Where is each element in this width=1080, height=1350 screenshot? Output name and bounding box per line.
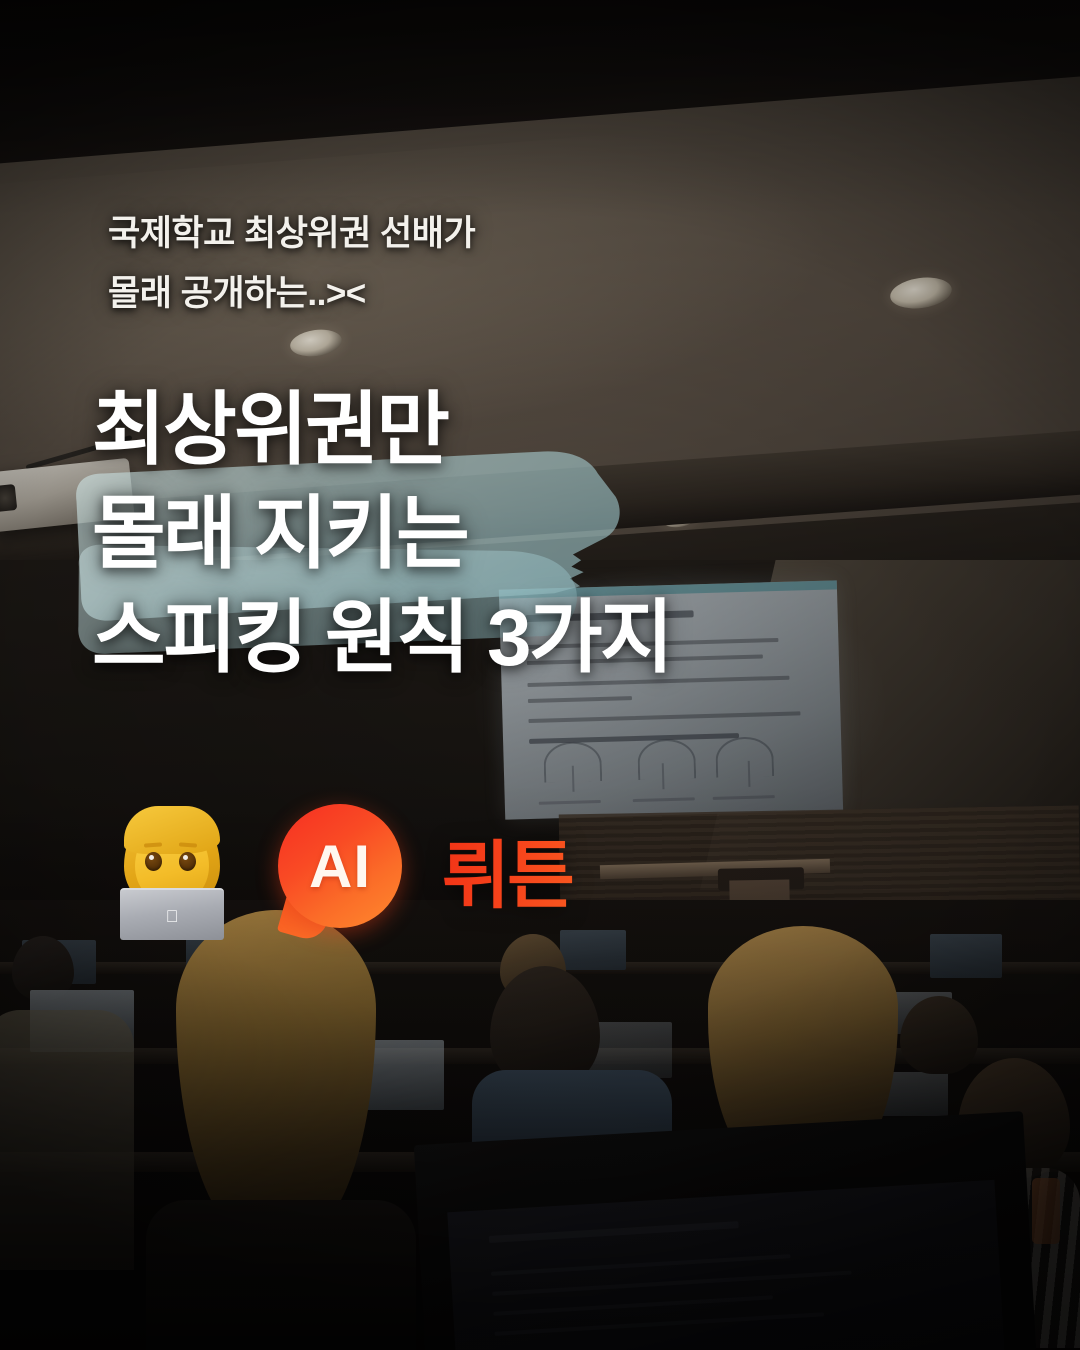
ai-badge-label: AI (278, 804, 402, 928)
apple-logo-icon:  (164, 908, 180, 925)
projector-lens (0, 484, 17, 512)
emoji-eye (179, 852, 196, 871)
brand-wordmark: 뤼튼 (442, 816, 572, 923)
bell-curve-icon (715, 736, 774, 778)
student-head (176, 910, 376, 1240)
emoji-eye (145, 852, 162, 871)
emoji-fringe (124, 806, 220, 854)
brand-logo-lockup[interactable]:  AI 뤼튼 (112, 790, 612, 945)
headline-text: 최상위권만 몰래 지키는 스피킹 원칙 3가지 (92, 378, 671, 690)
woman-technologist-emoji:  (120, 802, 224, 932)
subtitle-text: 국제학교 최상위권 선배가 몰래 공개하는..>< (108, 204, 475, 324)
promo-card: 국제학교 최상위권 선배가 몰래 공개하는..>< 최상위권만 몰래 지키는 스… (0, 0, 1080, 1350)
bell-curve-icon (637, 738, 696, 780)
